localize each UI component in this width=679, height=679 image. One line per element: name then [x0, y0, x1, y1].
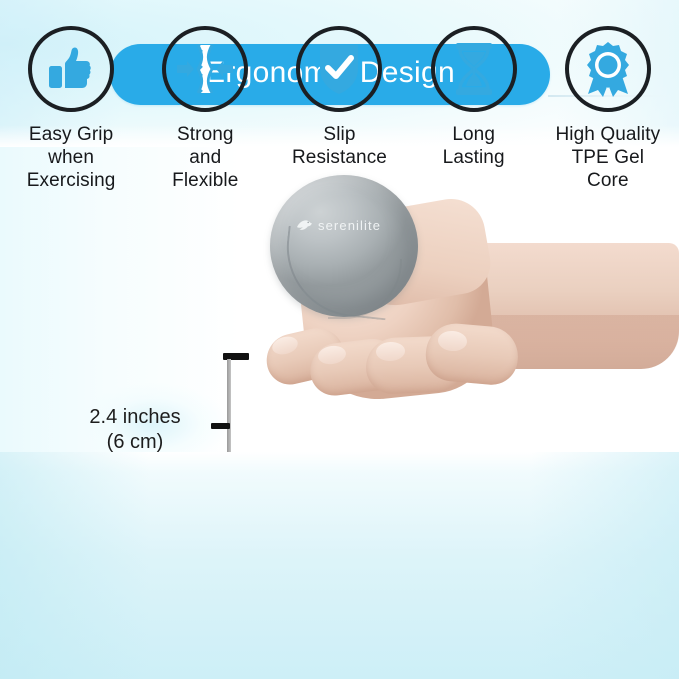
- feature-label-line: and: [172, 146, 238, 169]
- feature-label-line: when: [27, 146, 116, 169]
- feature-tpe-gel-core: High Quality TPE Gel Core: [544, 26, 672, 192]
- feature-long-lasting: Long Lasting: [410, 26, 538, 169]
- thumbs-up-icon: [44, 42, 98, 96]
- measurement-centimeters: (6 cm): [60, 430, 210, 453]
- bracket-mid-tick: [211, 423, 230, 429]
- feature-label-line: Flexible: [172, 169, 238, 192]
- dimension-bracket-icon: [220, 353, 250, 453]
- measurement-label: 2.4 inches (6 cm): [60, 405, 210, 453]
- feature-label-line: Easy Grip: [27, 123, 116, 146]
- feature-icon-circle: [565, 26, 651, 112]
- hourglass-icon: [449, 41, 499, 97]
- feature-label-line: Exercising: [27, 169, 116, 192]
- feature-label-line: Core: [555, 169, 660, 192]
- feature-label: Slip Resistance: [292, 123, 387, 169]
- feature-label: Strong and Flexible: [172, 123, 238, 192]
- feature-label-line: Strong: [172, 123, 238, 146]
- shield-check-icon: [314, 41, 364, 97]
- bracket-stem: [227, 359, 231, 453]
- feature-slip-resistance: Slip Resistance: [275, 26, 403, 169]
- feature-label-line: Slip: [292, 123, 387, 146]
- feature-strong-flexible: Strong and Flexible: [141, 26, 269, 192]
- award-ribbon-icon: [581, 41, 635, 97]
- feature-list: Easy Grip when Exercising: [0, 0, 679, 227]
- infographic-page: Ergonomic Design serenilite: [0, 0, 679, 679]
- feature-icon-circle: [431, 26, 517, 112]
- feature-label-line: TPE Gel: [555, 146, 660, 169]
- feature-label: Easy Grip when Exercising: [27, 123, 116, 192]
- feature-easy-grip: Easy Grip when Exercising: [7, 26, 135, 192]
- features-band-tint: [0, 452, 679, 679]
- feature-label: High Quality TPE Gel Core: [555, 123, 660, 192]
- compression-flexibility-icon: [176, 42, 234, 96]
- feature-label-line: High Quality: [555, 123, 660, 146]
- feature-label: Long Lasting: [443, 123, 505, 169]
- feature-icon-circle: [296, 26, 382, 112]
- feature-label-line: Lasting: [443, 146, 505, 169]
- features-band: [0, 452, 679, 679]
- feature-icon-circle: [28, 26, 114, 112]
- feature-icon-circle: [162, 26, 248, 112]
- feature-label-line: Long: [443, 123, 505, 146]
- measurement-inches: 2.4 inches: [60, 405, 210, 430]
- feature-label-line: Resistance: [292, 146, 387, 169]
